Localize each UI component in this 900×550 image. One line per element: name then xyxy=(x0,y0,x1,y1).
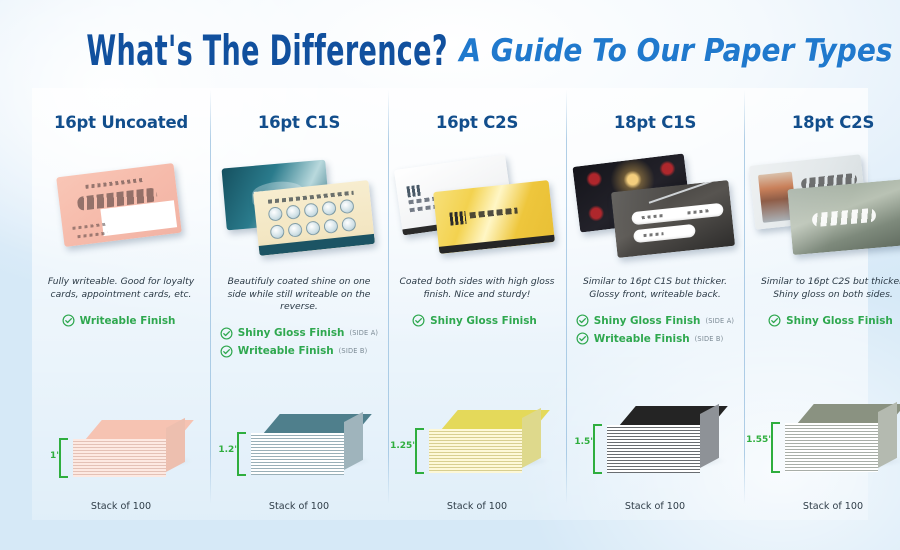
stack-front-face xyxy=(785,423,878,472)
product-art-pink-appointment-card xyxy=(38,150,204,262)
stack-illustration: 1.25" Stack of 100 xyxy=(397,408,557,512)
column-title: 18pt C2S xyxy=(792,113,874,132)
feature-side-note: (SIDE A) xyxy=(705,317,734,325)
column-description: Beautifuly coated shine on one side whil… xyxy=(221,276,377,314)
product-art-gold-white-cards xyxy=(394,150,560,262)
column-description: Similar to 16pt C1S but thicker. Glossy … xyxy=(577,276,733,301)
stack-illustration: 1.2" Stack of 100 xyxy=(219,408,379,512)
stack-sheet-lines xyxy=(251,433,344,475)
feature-label: Shiny Gloss Finish xyxy=(786,315,893,327)
column-description: Similar to 16pt C2S but thicker. Shiny g… xyxy=(755,276,900,301)
feature-item: Writeable Finish xyxy=(62,314,181,327)
feature-list: Shiny Gloss Finish (SIDE A) Writeable Fi… xyxy=(220,327,378,358)
column-18pt-c2s: 18pt C2S Similar to 16pt C2S but thicker… xyxy=(744,88,900,520)
stack-caption: Stack of 100 xyxy=(397,501,557,512)
column-title: 16pt Uncoated xyxy=(54,113,188,132)
loyalty-stamp xyxy=(341,216,356,231)
comparison-panel: 16pt Uncoated Fully writeable. Good for … xyxy=(32,88,868,520)
feature-item: Shiny Gloss Finish (SIDE A) xyxy=(220,327,378,340)
card-logo-mark xyxy=(406,185,421,198)
stack-sheet-lines xyxy=(785,423,878,472)
stack-front-face xyxy=(607,425,700,473)
measurement-bracket xyxy=(593,424,602,474)
measurement-bracket xyxy=(415,428,424,474)
feature-list: Shiny Gloss Finish (SIDE A) Writeable Fi… xyxy=(576,314,734,345)
loyalty-stamp xyxy=(270,224,285,239)
card-bottom-band xyxy=(439,235,555,254)
stack-side-face xyxy=(700,404,719,468)
stack-front-face xyxy=(429,429,522,473)
paper-stack: 1" xyxy=(73,420,185,486)
loyalty-stamp xyxy=(305,220,320,235)
card-rule-line-1 xyxy=(72,223,106,230)
card-logo-mark xyxy=(449,211,466,226)
card-name-text xyxy=(469,208,517,219)
feature-label: Shiny Gloss Finish xyxy=(594,315,701,327)
card-rule-line-2 xyxy=(77,232,107,239)
paper-stack: 1.25" xyxy=(429,410,541,486)
page-title-subtitle: A Guide To Our Paper Types xyxy=(459,32,892,68)
column-description: Fully writeable. Good for loyalty cards,… xyxy=(43,276,199,301)
measurement-label: 1" xyxy=(29,451,61,461)
check-circle-icon xyxy=(576,332,589,345)
check-circle-icon xyxy=(62,314,75,327)
measurement-label: 1.25" xyxy=(385,441,417,451)
loyalty-stamp xyxy=(321,201,336,216)
stack-caption: Stack of 100 xyxy=(575,501,735,512)
feature-label: Shiny Gloss Finish xyxy=(430,315,537,327)
feature-item: Writeable Finish (SIDE B) xyxy=(576,332,724,345)
cream-loyalty-card xyxy=(253,180,375,256)
feature-side-note: (SIDE A) xyxy=(349,329,378,337)
stack-illustration: 1.5" Stack of 100 xyxy=(575,408,735,512)
measurement-label: 1.55" xyxy=(741,435,773,445)
infographic-page: What's The Difference? A Guide To Our Pa… xyxy=(0,0,900,550)
signature-script xyxy=(812,208,877,228)
card-subtitle-text xyxy=(85,178,143,189)
loyalty-stamp xyxy=(286,204,301,219)
measurement-bracket xyxy=(771,422,780,473)
appointment-card xyxy=(56,163,182,247)
stack-illustration: 1.55" Stack of 100 xyxy=(753,408,900,512)
column-description: Coated both sides with high gloss finish… xyxy=(399,276,555,301)
check-circle-icon xyxy=(220,327,233,340)
loyalty-stamp xyxy=(287,222,302,237)
feature-side-note: (SIDE B) xyxy=(695,335,724,343)
loyalty-stamp xyxy=(323,218,338,233)
stack-front-face xyxy=(73,439,166,477)
loyalty-stamp xyxy=(339,199,354,214)
write-on-bar-text xyxy=(642,214,664,219)
check-circle-icon xyxy=(412,314,425,327)
feature-side-note: (SIDE B) xyxy=(339,347,368,355)
stack-illustration: 1" Stack of 100 xyxy=(41,408,201,512)
measurement-label: 1.2" xyxy=(207,445,239,455)
page-header: What's The Difference? A Guide To Our Pa… xyxy=(0,0,900,86)
feature-item: Writeable Finish (SIDE B) xyxy=(220,345,368,358)
photo-signature-card xyxy=(787,179,900,255)
product-art-dark-tattoo-cards xyxy=(572,150,738,262)
column-16pt-c2s: 16pt C2S Coated both sides with high glo… xyxy=(388,88,566,520)
loyalty-stamp xyxy=(268,206,283,221)
stack-caption: Stack of 100 xyxy=(753,501,900,512)
gold-gloss-card xyxy=(433,180,555,254)
feature-label: Writeable Finish xyxy=(80,315,176,327)
stack-side-face xyxy=(522,408,541,468)
check-circle-icon xyxy=(768,314,781,327)
stack-side-face xyxy=(878,402,897,468)
column-18pt-c1s: 18pt C1S Similar to 16pt C1S but thicker… xyxy=(566,88,744,520)
feature-item: Shiny Gloss Finish xyxy=(412,314,542,327)
write-on-bar xyxy=(633,224,696,243)
stack-sheet-lines xyxy=(429,429,522,473)
column-16pt-uncoated: 16pt Uncoated Fully writeable. Good for … xyxy=(32,88,210,520)
feature-label: Writeable Finish xyxy=(238,345,334,357)
stack-caption: Stack of 100 xyxy=(219,501,379,512)
paper-stack: 1.2" xyxy=(251,414,363,486)
feature-label: Writeable Finish xyxy=(594,333,690,345)
stack-sheet-lines xyxy=(73,439,166,477)
feature-list: Writeable Finish xyxy=(62,314,181,327)
measurement-label: 1.5" xyxy=(563,437,595,447)
paper-stack: 1.5" xyxy=(607,406,719,486)
write-on-bar xyxy=(631,203,724,226)
write-on-bar-text xyxy=(643,232,663,237)
check-circle-icon xyxy=(220,345,233,358)
stack-front-face xyxy=(251,433,344,475)
stack-sheet-lines xyxy=(607,425,700,473)
stack-caption: Stack of 100 xyxy=(41,501,201,512)
page-title-main: What's The Difference? xyxy=(87,25,449,75)
product-art-photo-signature-cards xyxy=(750,150,900,262)
feature-item: Shiny Gloss Finish (SIDE A) xyxy=(576,314,734,327)
dark-back-card xyxy=(611,180,735,258)
column-title: 16pt C2S xyxy=(436,113,518,132)
paper-stack: 1.55" xyxy=(785,404,897,486)
feature-list: Shiny Gloss Finish xyxy=(768,314,898,327)
check-circle-icon xyxy=(576,314,589,327)
feature-label: Shiny Gloss Finish xyxy=(238,327,345,339)
stack-side-face xyxy=(344,412,363,470)
column-16pt-c1s: 16pt C1S Beautifuly coated shine on one … xyxy=(210,88,388,520)
feature-item: Shiny Gloss Finish xyxy=(768,314,898,327)
column-title: 16pt C1S xyxy=(258,113,340,132)
loyalty-stamp xyxy=(303,203,318,218)
loyalty-stamp-grid xyxy=(268,198,363,239)
product-art-teal-loyalty-cards xyxy=(216,150,382,262)
feature-list: Shiny Gloss Finish xyxy=(412,314,542,327)
write-on-bar-text xyxy=(687,209,709,214)
column-title: 18pt C1S xyxy=(614,113,696,132)
